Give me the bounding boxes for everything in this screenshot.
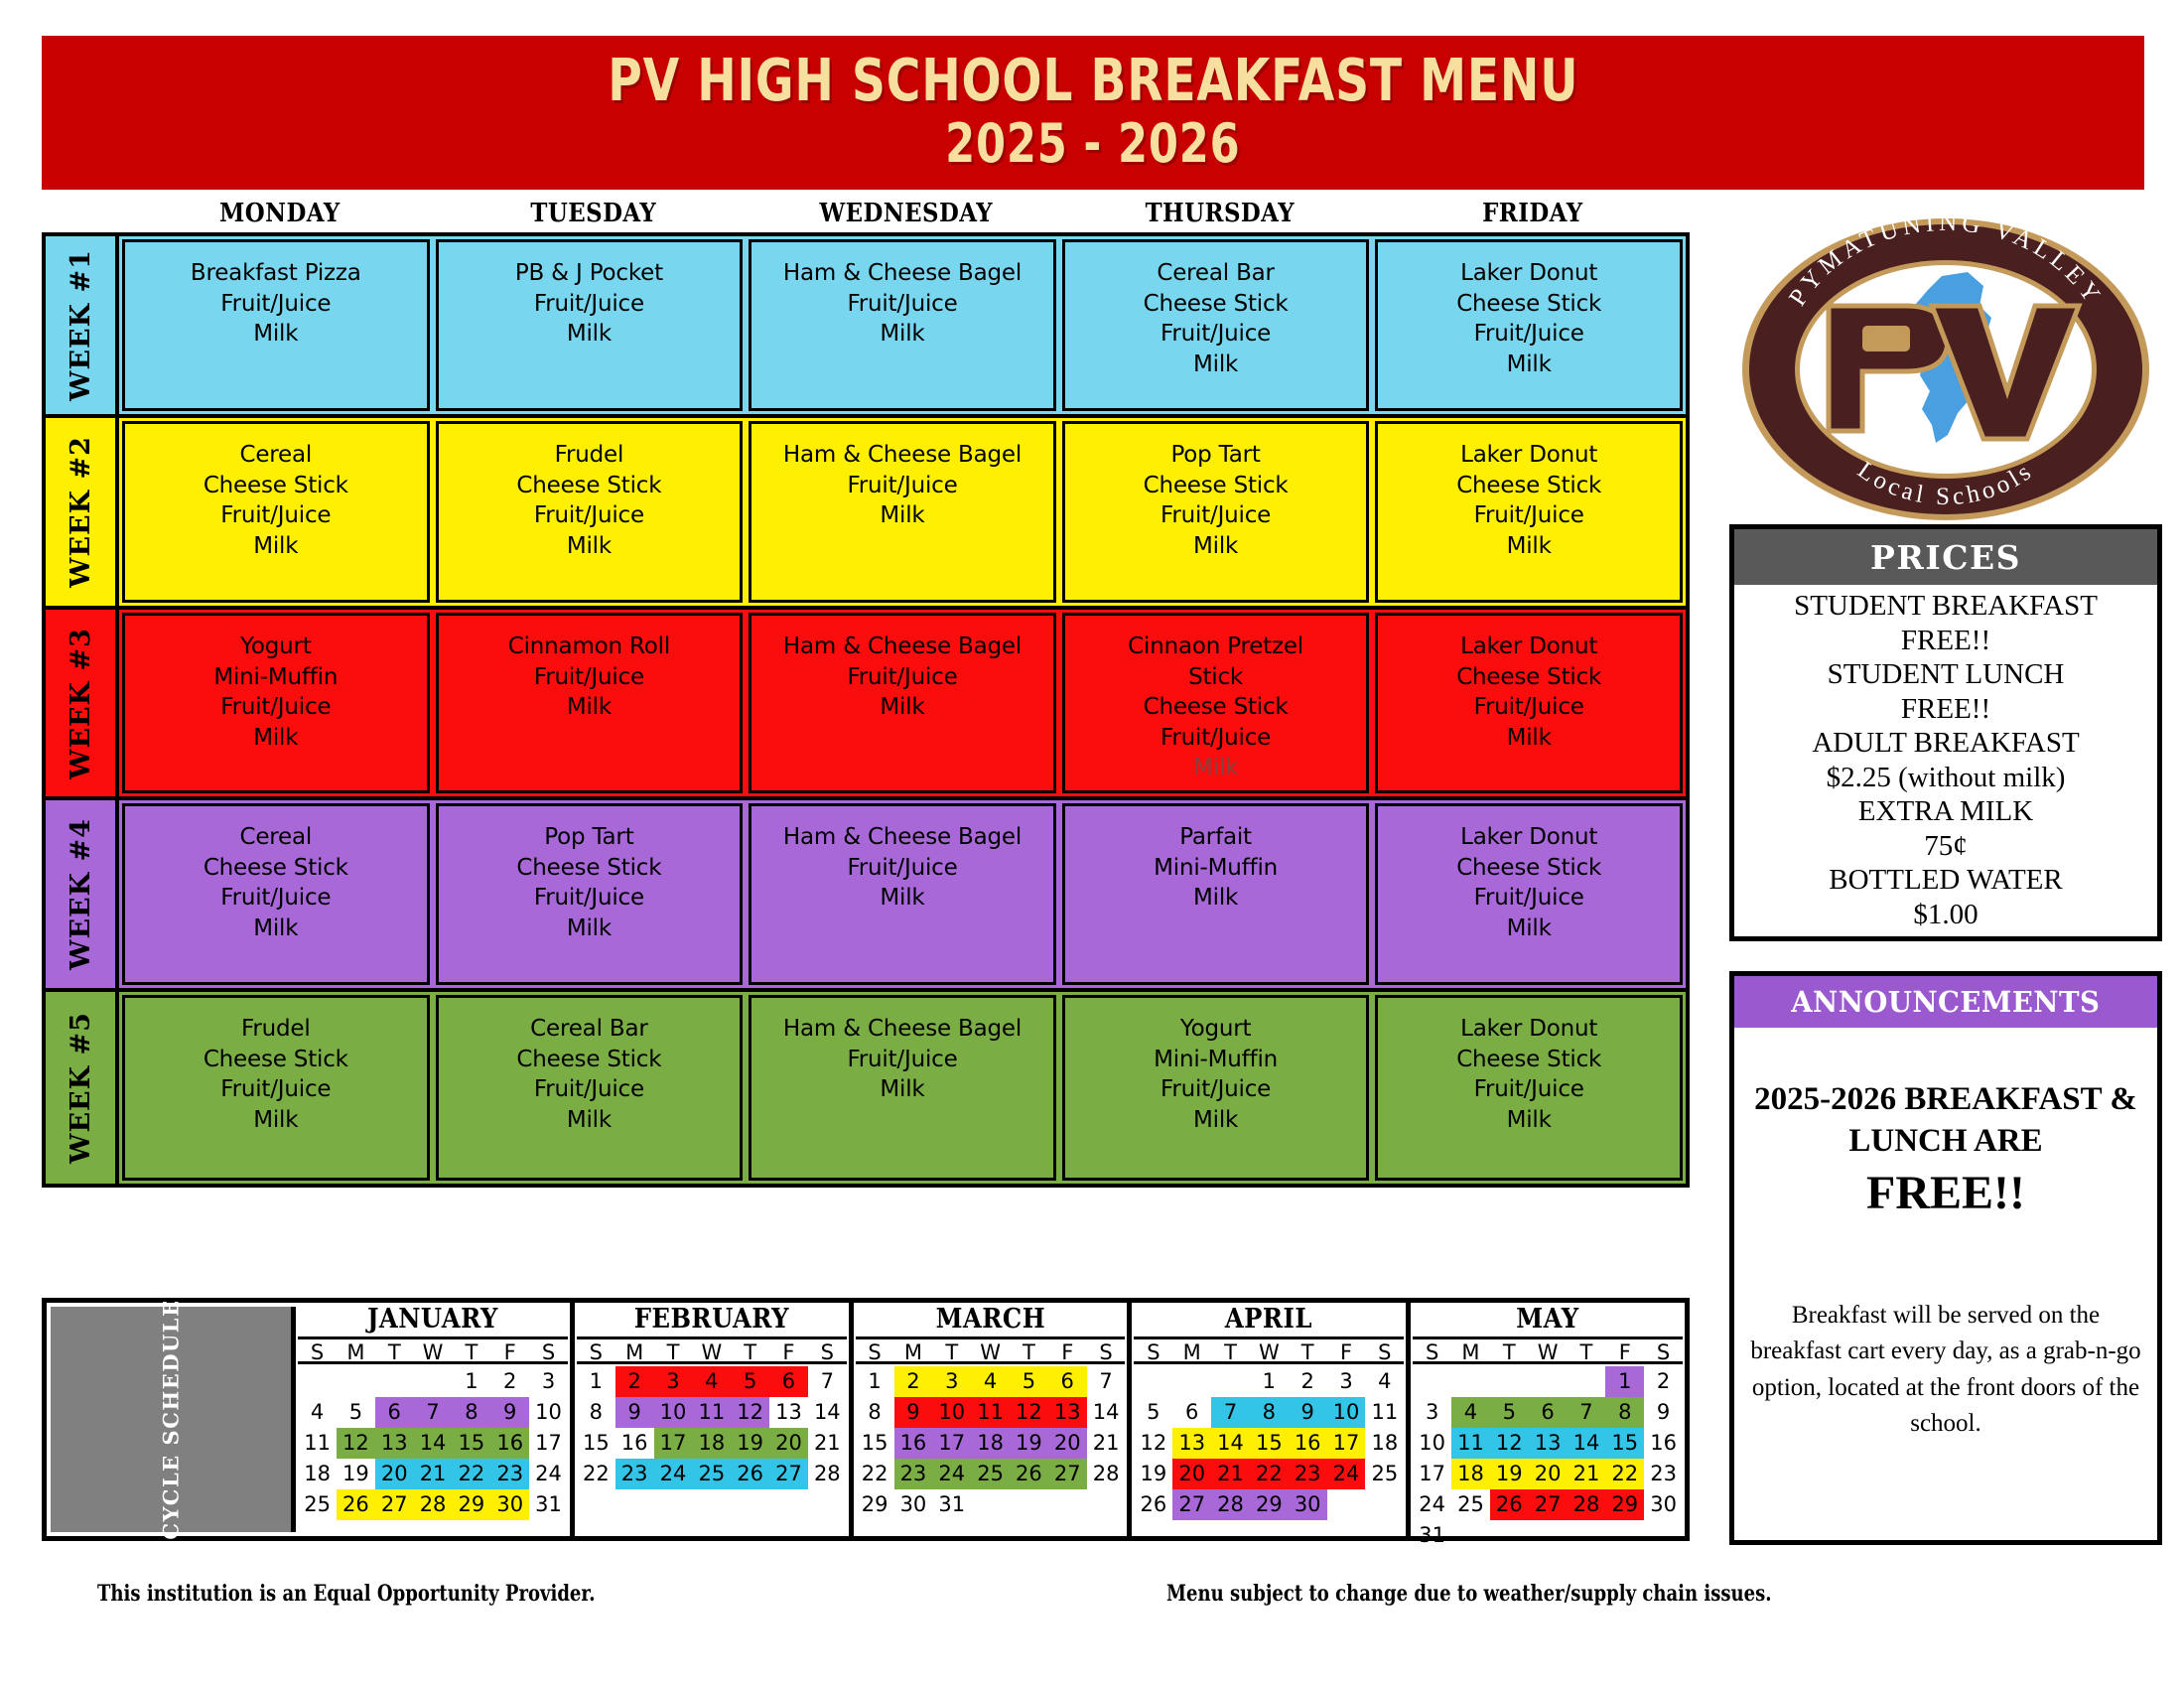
calendar-day: 25 xyxy=(1451,1489,1490,1520)
dow-cell: W xyxy=(1529,1339,1568,1361)
menu-item: Cheese Stick xyxy=(125,471,427,501)
calendar-day: 1 xyxy=(856,1366,894,1397)
menu-item: Fruit/Juice xyxy=(751,471,1053,501)
day-of-week-row: SMTWTFS xyxy=(1413,1336,1683,1364)
calendar-week-row: 293031 xyxy=(856,1489,1126,1520)
menu-item: Mini-Muffin xyxy=(1065,853,1367,884)
calendar-day: 7 xyxy=(1087,1366,1126,1397)
menu-item: Cereal xyxy=(125,440,427,471)
week-day-cells: CerealCheese StickFruit/JuiceMilkFrudelC… xyxy=(119,418,1686,606)
calendar-day: 10 xyxy=(1413,1428,1451,1459)
dow-cell: T xyxy=(452,1339,490,1361)
calendar-week-row: 11121314151617 xyxy=(298,1428,568,1459)
dow-cell: M xyxy=(894,1339,933,1361)
calendar-day: 6 xyxy=(1529,1397,1568,1428)
page-title: PV HIGH SCHOOL BREAKFAST MENU xyxy=(608,50,1578,111)
menu-item: Fruit/Juice xyxy=(1065,500,1367,531)
school-logo: PYMATUNING VALLEY Local Schools xyxy=(1731,211,2160,528)
week-label-4: WEEK #4 xyxy=(46,800,119,988)
calendar-week-row: 10111213141516 xyxy=(1413,1428,1683,1459)
calendar-day-empty xyxy=(1172,1366,1211,1397)
price-line: $2.25 (without milk) xyxy=(1734,761,2157,795)
calendar-day: 15 xyxy=(577,1428,615,1459)
calendar-day: 30 xyxy=(1289,1489,1327,1520)
dow-cell: T xyxy=(1010,1339,1048,1361)
week-label-text: WEEK #3 xyxy=(66,628,96,779)
calendar-day: 18 xyxy=(1365,1428,1404,1459)
calendar-day: 17 xyxy=(1413,1459,1451,1489)
month-title: MARCH xyxy=(869,1303,1112,1336)
calendar-day: 12 xyxy=(337,1428,375,1459)
menu-item: Fruit/Juice xyxy=(1378,500,1680,531)
calendar-day-empty xyxy=(971,1489,1010,1520)
week-label-1: WEEK #1 xyxy=(46,236,119,414)
menu-item: Fruit/Juice xyxy=(1065,723,1367,754)
menu-cell-w1-tuesday: PB & J PocketFruit/JuiceMilk xyxy=(436,239,744,411)
day-header-monday: MONDAY xyxy=(142,199,418,232)
calendar-day: 25 xyxy=(692,1459,731,1489)
calendar-day-empty xyxy=(1413,1366,1451,1397)
menu-item: Fruit/Juice xyxy=(1065,1074,1367,1105)
calendar-week-row: 2627282930 xyxy=(1134,1489,1404,1520)
menu-item: Pop Tart xyxy=(439,822,741,853)
calendar-day: 1 xyxy=(452,1366,490,1397)
menu-cell-w4-monday: CerealCheese StickFruit/JuiceMilk xyxy=(122,803,430,985)
calendar-day: 16 xyxy=(490,1428,529,1459)
calendar-day-empty xyxy=(414,1366,453,1397)
calendar-day: 18 xyxy=(692,1428,731,1459)
dow-cell: W xyxy=(692,1339,731,1361)
month-calendar-february: FEBRUARYSMTWTFS1234567891011121314151617… xyxy=(575,1303,854,1536)
dow-cell: S xyxy=(577,1339,615,1361)
week-label-text: WEEK #5 xyxy=(66,1012,96,1164)
dow-cell: W xyxy=(1250,1339,1289,1361)
day-of-week-row: SMTWTFS xyxy=(856,1336,1126,1364)
calendar-day: 19 xyxy=(1134,1459,1172,1489)
price-line: 75¢ xyxy=(1734,829,2157,864)
calendar-day-empty xyxy=(1529,1520,1568,1551)
calendar-day: 18 xyxy=(298,1459,337,1489)
calendar-day-empty xyxy=(298,1366,337,1397)
calendar-day: 26 xyxy=(1010,1459,1048,1489)
calendar-weeks: 1234567891011121314151617181920212223242… xyxy=(577,1364,847,1536)
menu-change-notice: Menu subject to change due to weather/su… xyxy=(1166,1581,1772,1607)
menu-item: Fruit/Juice xyxy=(751,853,1053,884)
calendar-day: 3 xyxy=(654,1366,693,1397)
calendar-day: 12 xyxy=(731,1397,769,1428)
calendar-day: 7 xyxy=(1568,1397,1606,1428)
calendar-day: 13 xyxy=(1529,1428,1568,1459)
cycle-schedule-section: CYCLE SCHEDULE JANUARYSMTWTFS12345678910… xyxy=(42,1298,1690,1541)
calendar-day: 23 xyxy=(1289,1459,1327,1489)
menu-item: Cheese Stick xyxy=(1378,471,1680,501)
announcements-box: ANNOUNCEMENTS 2025-2026 BREAKFAST & LUNC… xyxy=(1729,971,2162,1545)
menu-item: Cheese Stick xyxy=(1065,471,1367,501)
menu-item: Cereal xyxy=(125,822,427,853)
menu-item: Breakfast Pizza xyxy=(125,258,427,289)
calendar-day: 21 xyxy=(1087,1428,1126,1459)
calendar-day: 17 xyxy=(529,1428,568,1459)
calendar-day: 9 xyxy=(1644,1397,1683,1428)
calendar-day: 23 xyxy=(894,1459,933,1489)
dow-cell: F xyxy=(490,1339,529,1361)
calendar-day: 9 xyxy=(1289,1397,1327,1428)
calendar-day: 17 xyxy=(1327,1428,1366,1459)
month-calendars: JANUARYSMTWTFS12345678910111213141516171… xyxy=(296,1303,1685,1536)
calendar-week-row: 19202122232425 xyxy=(1134,1459,1404,1489)
day-header-thursday: THURSDAY xyxy=(1082,199,1358,232)
menu-item: Mini-Muffin xyxy=(1065,1045,1367,1075)
calendar-day: 24 xyxy=(529,1459,568,1489)
calendar-day: 2 xyxy=(894,1366,933,1397)
menu-item: Milk xyxy=(1378,350,1680,380)
price-line: FREE!! xyxy=(1734,692,2157,727)
calendar-day: 29 xyxy=(856,1489,894,1520)
calendar-day: 14 xyxy=(1211,1428,1250,1459)
menu-cell-w4-friday: Laker DonutCheese StickFruit/JuiceMilk xyxy=(1375,803,1683,985)
week-day-cells: CerealCheese StickFruit/JuiceMilkPop Tar… xyxy=(119,800,1686,988)
menu-item: Frudel xyxy=(125,1014,427,1045)
menu-item: Fruit/Juice xyxy=(125,289,427,320)
menu-item: Fruit/Juice xyxy=(1065,319,1367,350)
announcements-header: ANNOUNCEMENTS xyxy=(1734,976,2157,1028)
price-line: STUDENT BREAKFAST xyxy=(1734,589,2157,624)
dow-cell: W xyxy=(414,1339,453,1361)
menu-item: Cheese Stick xyxy=(1378,853,1680,884)
calendar-day: 5 xyxy=(1134,1397,1172,1428)
calendar-day: 8 xyxy=(1250,1397,1289,1428)
calendar-week-row: 25262728293031 xyxy=(298,1489,568,1520)
calendar-day: 5 xyxy=(731,1366,769,1397)
dow-cell: F xyxy=(769,1339,808,1361)
menu-item: Ham & Cheese Bagel xyxy=(751,1014,1053,1045)
calendar-day: 9 xyxy=(490,1397,529,1428)
calendar-day: 1 xyxy=(577,1366,615,1397)
calendar-day: 8 xyxy=(856,1397,894,1428)
calendar-day: 2 xyxy=(615,1366,654,1397)
menu-item: Milk xyxy=(1065,531,1367,562)
calendar-day: 28 xyxy=(1087,1459,1126,1489)
menu-item: Milk xyxy=(439,1105,741,1136)
menu-item: Milk xyxy=(1378,1105,1680,1136)
calendar-day: 15 xyxy=(1250,1428,1289,1459)
announcement-note: Breakfast will be served on the breakfas… xyxy=(1748,1298,2143,1443)
calendar-day: 11 xyxy=(1451,1428,1490,1459)
menu-item: Fruit/Juice xyxy=(1378,883,1680,914)
calendar-day-empty xyxy=(1365,1489,1404,1520)
calendar-day: 30 xyxy=(894,1489,933,1520)
menu-cell-w2-wednesday: Ham & Cheese BagelFruit/JuiceMilk xyxy=(749,421,1056,603)
calendar-day: 8 xyxy=(452,1397,490,1428)
menu-item: PB & J Pocket xyxy=(439,258,741,289)
menu-item: Cheese Stick xyxy=(1065,692,1367,723)
calendar-day: 7 xyxy=(808,1366,847,1397)
week-label-text: WEEK #4 xyxy=(66,818,96,970)
calendar-week-row: 15161718192021 xyxy=(577,1428,847,1459)
day-of-week-row: SMTWTFS xyxy=(1134,1336,1404,1364)
dow-cell: T xyxy=(654,1339,693,1361)
cycle-schedule-label: CYCLE SCHEDULE xyxy=(51,1307,296,1532)
calendar-day-empty xyxy=(1568,1520,1606,1551)
calendar-day: 5 xyxy=(1010,1366,1048,1397)
menu-item: Laker Donut xyxy=(1378,632,1680,662)
menu-cell-w3-thursday: Cinnaon PretzelStickCheese StickFruit/Ju… xyxy=(1062,613,1370,793)
menu-item: Milk xyxy=(125,723,427,754)
calendar-day-empty xyxy=(1568,1366,1606,1397)
calendar-day: 15 xyxy=(452,1428,490,1459)
menu-item: Fruit/Juice xyxy=(439,289,741,320)
week-label-text: WEEK #2 xyxy=(66,436,96,588)
calendar-day: 22 xyxy=(1250,1459,1289,1489)
calendar-day: 17 xyxy=(654,1428,693,1459)
calendar-day: 20 xyxy=(769,1428,808,1459)
menu-item: Milk xyxy=(1065,753,1367,783)
calendar-day-empty xyxy=(1605,1520,1644,1551)
menu-item: Milk xyxy=(751,319,1053,350)
calendar-week-row: 17181920212223 xyxy=(1413,1459,1683,1489)
calendar-day: 3 xyxy=(1327,1366,1366,1397)
price-line: STUDENT LUNCH xyxy=(1734,657,2157,692)
menu-cell-w4-tuesday: Pop TartCheese StickFruit/JuiceMilk xyxy=(436,803,744,985)
menu-item: Laker Donut xyxy=(1378,258,1680,289)
calendar-day: 19 xyxy=(1490,1459,1529,1489)
menu-item: Milk xyxy=(439,914,741,944)
calendar-day: 10 xyxy=(529,1397,568,1428)
calendar-day: 23 xyxy=(490,1459,529,1489)
month-calendar-may: MAYSMTWTFS123456789101112131415161718192… xyxy=(1411,1303,1685,1536)
calendar-day: 3 xyxy=(1413,1397,1451,1428)
menu-item: Cheese Stick xyxy=(1378,289,1680,320)
calendar-day: 24 xyxy=(1327,1459,1366,1489)
calendar-day: 4 xyxy=(971,1366,1010,1397)
day-header-wednesday: WEDNESDAY xyxy=(768,199,1044,232)
week-label-3: WEEK #3 xyxy=(46,610,119,796)
menu-cell-w2-thursday: Pop TartCheese StickFruit/JuiceMilk xyxy=(1062,421,1370,603)
calendar-day: 4 xyxy=(1451,1397,1490,1428)
calendar-day: 19 xyxy=(1010,1428,1048,1459)
calendar-day-empty xyxy=(337,1366,375,1397)
calendar-day: 6 xyxy=(1048,1366,1087,1397)
header-banner: PV HIGH SCHOOL BREAKFAST MENU 2025 - 202… xyxy=(42,36,2144,190)
calendar-day: 2 xyxy=(490,1366,529,1397)
calendar-day-empty xyxy=(1529,1366,1568,1397)
calendar-day: 17 xyxy=(932,1428,971,1459)
menu-item: Stick xyxy=(1065,662,1367,693)
menu-item: Milk xyxy=(439,692,741,723)
calendar-day: 28 xyxy=(1211,1489,1250,1520)
calendar-day: 19 xyxy=(337,1459,375,1489)
calendar-day: 9 xyxy=(615,1397,654,1428)
menu-cell-w3-monday: YogurtMini-MuffinFruit/JuiceMilk xyxy=(122,613,430,793)
calendar-day: 16 xyxy=(1289,1428,1327,1459)
calendar-day: 12 xyxy=(1134,1428,1172,1459)
menu-item: Mini-Muffin xyxy=(125,662,427,693)
menu-item: Milk xyxy=(751,692,1053,723)
calendar-day: 27 xyxy=(1529,1489,1568,1520)
calendar-week-row: 567891011 xyxy=(1134,1397,1404,1428)
calendar-day-empty xyxy=(375,1366,414,1397)
menu-item: Fruit/Juice xyxy=(439,662,741,693)
calendar-week-row: 24252627282930 xyxy=(1413,1489,1683,1520)
calendar-day: 3 xyxy=(932,1366,971,1397)
calendar-day: 25 xyxy=(971,1459,1010,1489)
calendar-day: 31 xyxy=(1413,1520,1451,1551)
calendar-day: 8 xyxy=(577,1397,615,1428)
price-line: $1.00 xyxy=(1734,898,2157,932)
calendar-day: 24 xyxy=(1413,1489,1451,1520)
menu-item: Cinnaon Pretzel xyxy=(1065,632,1367,662)
menu-item: Milk xyxy=(125,531,427,562)
menu-cell-w1-monday: Breakfast PizzaFruit/JuiceMilk xyxy=(122,239,430,411)
price-line: ADULT BREAKFAST xyxy=(1734,726,2157,761)
calendar-day-empty xyxy=(1211,1366,1250,1397)
calendar-week-row: 1234567 xyxy=(577,1366,847,1397)
dow-cell: S xyxy=(1413,1339,1451,1361)
menu-item: Cheese Stick xyxy=(1378,1045,1680,1075)
calendar-week-row: 31 xyxy=(1413,1520,1683,1551)
dow-cell: T xyxy=(731,1339,769,1361)
menu-item: Parfait xyxy=(1065,822,1367,853)
calendar-day: 11 xyxy=(298,1428,337,1459)
calendar-day: 7 xyxy=(1211,1397,1250,1428)
calendar-day: 22 xyxy=(1605,1459,1644,1489)
dow-cell: F xyxy=(1605,1339,1644,1361)
menu-item: Milk xyxy=(125,914,427,944)
menu-item: Milk xyxy=(1378,531,1680,562)
menu-cell-w5-friday: Laker DonutCheese StickFruit/JuiceMilk xyxy=(1375,995,1683,1181)
menu-item: Cheese Stick xyxy=(439,471,741,501)
calendar-day: 1 xyxy=(1605,1366,1644,1397)
menu-week-row: WEEK #3YogurtMini-MuffinFruit/JuiceMilkC… xyxy=(46,610,1686,800)
pv-local-schools-seal-icon: PYMATUNING VALLEY Local Schools xyxy=(1737,214,2154,524)
calendar-day: 4 xyxy=(1365,1366,1404,1397)
calendar-day: 14 xyxy=(1087,1397,1126,1428)
month-title: MAY xyxy=(1427,1303,1670,1336)
calendar-day: 27 xyxy=(769,1459,808,1489)
calendar-day: 26 xyxy=(1490,1489,1529,1520)
dow-cell: F xyxy=(1048,1339,1087,1361)
calendar-week-row: 15161718192021 xyxy=(856,1428,1126,1459)
calendar-day: 29 xyxy=(452,1489,490,1520)
day-header-friday: FRIDAY xyxy=(1395,199,1671,232)
calendar-day: 30 xyxy=(490,1489,529,1520)
dow-cell: W xyxy=(971,1339,1010,1361)
menu-item: Cereal Bar xyxy=(439,1014,741,1045)
menu-week-row: WEEK #5FrudelCheese StickFruit/JuiceMilk… xyxy=(46,992,1686,1184)
calendar-day: 7 xyxy=(414,1397,453,1428)
menu-item: Ham & Cheese Bagel xyxy=(751,822,1053,853)
menu-cell-w4-wednesday: Ham & Cheese BagelFruit/JuiceMilk xyxy=(749,803,1056,985)
menu-item: Ham & Cheese Bagel xyxy=(751,440,1053,471)
menu-item: Milk xyxy=(1378,914,1680,944)
calendar-day: 12 xyxy=(1490,1428,1529,1459)
calendar-day: 5 xyxy=(1490,1397,1529,1428)
calendar-day: 8 xyxy=(1605,1397,1644,1428)
calendar-day-empty xyxy=(1451,1366,1490,1397)
calendar-day: 14 xyxy=(1568,1428,1606,1459)
calendar-week-row: 1234 xyxy=(1134,1366,1404,1397)
calendar-day: 22 xyxy=(452,1459,490,1489)
calendar-day: 21 xyxy=(414,1459,453,1489)
calendar-day: 5 xyxy=(337,1397,375,1428)
menu-item: Cheese Stick xyxy=(1378,662,1680,693)
week-label-2: WEEK #2 xyxy=(46,418,119,606)
menu-item: Milk xyxy=(751,500,1053,531)
calendar-day: 28 xyxy=(808,1459,847,1489)
menu-item: Fruit/Juice xyxy=(751,289,1053,320)
day-of-week-row: SMTWTFS xyxy=(298,1336,568,1364)
calendar-day: 22 xyxy=(577,1459,615,1489)
week-day-cells: FrudelCheese StickFruit/JuiceMilkCereal … xyxy=(119,992,1686,1184)
calendar-day: 20 xyxy=(1529,1459,1568,1489)
menu-item: Milk xyxy=(1378,723,1680,754)
calendar-day-empty xyxy=(1490,1520,1529,1551)
menu-item: Milk xyxy=(751,883,1053,914)
calendar-day: 26 xyxy=(1134,1489,1172,1520)
calendar-week-row: 12 xyxy=(1413,1366,1683,1397)
calendar-day: 29 xyxy=(1250,1489,1289,1520)
week-label-5: WEEK #5 xyxy=(46,992,119,1184)
menu-week-row: WEEK #1Breakfast PizzaFruit/JuiceMilkPB … xyxy=(46,236,1686,418)
menu-item: Laker Donut xyxy=(1378,440,1680,471)
calendar-day: 6 xyxy=(769,1366,808,1397)
menu-item: Ham & Cheese Bagel xyxy=(751,632,1053,662)
weekly-menu-section: MONDAYTUESDAYWEDNESDAYTHURSDAYFRIDAY WEE… xyxy=(42,199,1690,1188)
calendar-day: 20 xyxy=(1048,1428,1087,1459)
menu-item: Frudel xyxy=(439,440,741,471)
calendar-day: 29 xyxy=(1605,1489,1644,1520)
menu-item: Fruit/Juice xyxy=(125,692,427,723)
menu-item: Fruit/Juice xyxy=(751,1045,1053,1075)
calendar-weeks: 1234567891011121314151617181920212223242… xyxy=(1413,1364,1683,1551)
menu-item: Milk xyxy=(439,319,741,350)
calendar-day: 24 xyxy=(654,1459,693,1489)
dow-cell: S xyxy=(1087,1339,1126,1361)
calendar-week-row: 1234567 xyxy=(856,1366,1126,1397)
calendar-day: 21 xyxy=(1568,1459,1606,1489)
calendar-day-empty xyxy=(1644,1520,1683,1551)
month-title: JANUARY xyxy=(312,1303,555,1336)
dow-cell: S xyxy=(808,1339,847,1361)
calendar-day: 13 xyxy=(769,1397,808,1428)
calendar-day: 28 xyxy=(414,1489,453,1520)
menu-item: Laker Donut xyxy=(1378,822,1680,853)
calendar-day: 2 xyxy=(1289,1366,1327,1397)
calendar-day: 11 xyxy=(1365,1397,1404,1428)
menu-cell-w5-wednesday: Ham & Cheese BagelFruit/JuiceMilk xyxy=(749,995,1056,1181)
menu-item: Pop Tart xyxy=(1065,440,1367,471)
calendar-day: 22 xyxy=(856,1459,894,1489)
calendar-day: 6 xyxy=(375,1397,414,1428)
calendar-day: 6 xyxy=(1172,1397,1211,1428)
prices-header: PRICES xyxy=(1734,529,2157,585)
menu-item: Cheese Stick xyxy=(125,853,427,884)
calendar-day: 14 xyxy=(808,1397,847,1428)
menu-week-row: WEEK #4CerealCheese StickFruit/JuiceMilk… xyxy=(46,800,1686,992)
dow-cell: T xyxy=(1490,1339,1529,1361)
calendar-day: 21 xyxy=(808,1428,847,1459)
calendar-week-row: 891011121314 xyxy=(577,1397,847,1428)
menu-item: Milk xyxy=(1065,1105,1367,1136)
calendar-week-row: 3456789 xyxy=(1413,1397,1683,1428)
calendar-day-empty xyxy=(1048,1489,1087,1520)
calendar-week-row: 45678910 xyxy=(298,1397,568,1428)
calendar-day: 11 xyxy=(692,1397,731,1428)
dow-cell: M xyxy=(1172,1339,1211,1361)
calendar-day: 30 xyxy=(1644,1489,1683,1520)
calendar-week-row: 12131415161718 xyxy=(1134,1428,1404,1459)
month-calendar-january: JANUARYSMTWTFS12345678910111213141516171… xyxy=(296,1303,575,1536)
